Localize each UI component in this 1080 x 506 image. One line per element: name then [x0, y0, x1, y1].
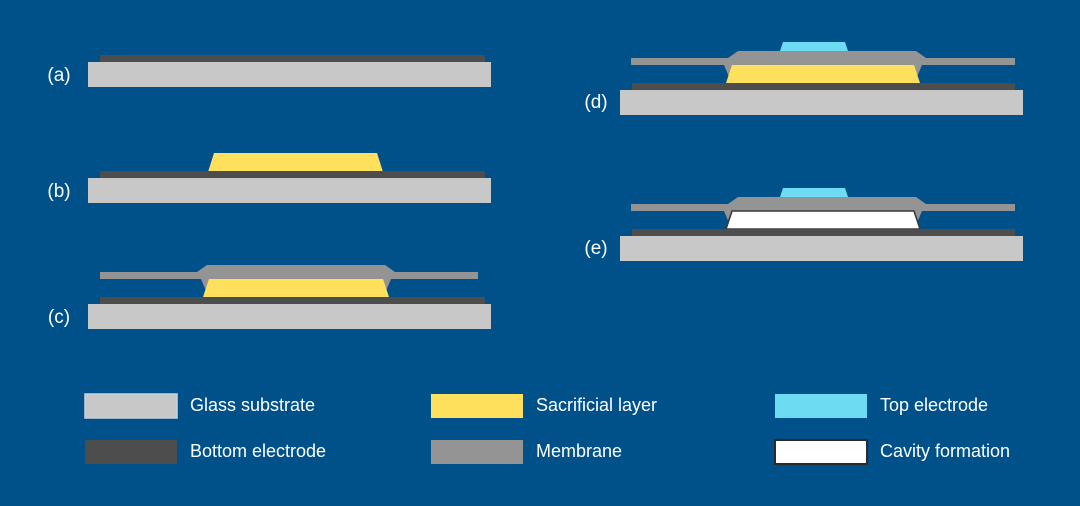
- legend-label-membrane: Membrane: [536, 441, 622, 461]
- panel-c-bottom-electrode: [100, 297, 485, 305]
- panel-a-bottom-electrode: [100, 55, 485, 63]
- panel-a-glass-substrate: [88, 62, 491, 87]
- panel-c-label: (c): [48, 307, 70, 328]
- panel-a-label: (a): [47, 65, 70, 86]
- panel-b-sacrificial-layer: [208, 153, 383, 172]
- panel-a: (a): [47, 55, 491, 87]
- panel-d-bottom-electrode: [632, 83, 1015, 91]
- legend-item-cavity-formation: Cavity formation: [775, 440, 1010, 464]
- panel-d-sacrificial-layer: [726, 65, 920, 83]
- legend-swatch-sacrificial-layer: [431, 394, 523, 418]
- panel-e-bottom-electrode: [632, 229, 1015, 237]
- legend-item-bottom-electrode: Bottom electrode: [85, 440, 326, 464]
- legend-swatch-cavity-formation: [775, 440, 867, 464]
- process-flow-figure: (a) (b) (c) (d): [0, 0, 1080, 506]
- legend-label-cavity-formation: Cavity formation: [880, 441, 1010, 461]
- panel-e-label: (e): [584, 238, 607, 259]
- legend-swatch-top-electrode: [775, 394, 867, 418]
- legend-label-top-electrode: Top electrode: [880, 395, 988, 415]
- panel-c: (c): [48, 265, 491, 329]
- legend-item-glass-substrate: Glass substrate: [85, 394, 315, 418]
- legend-label-bottom-electrode: Bottom electrode: [190, 441, 326, 461]
- panel-b-label: (b): [47, 181, 70, 202]
- panel-e-cavity: [726, 211, 920, 229]
- panel-d-label: (d): [584, 92, 607, 113]
- legend-swatch-membrane: [431, 440, 523, 464]
- process-flow-diagram: (a) (b) (c) (d): [0, 0, 1080, 506]
- panel-c-sacrificial-layer: [203, 279, 389, 297]
- legend-label-sacrificial-layer: Sacrificial layer: [536, 395, 657, 415]
- legend-label-glass-substrate: Glass substrate: [190, 395, 315, 415]
- panel-b-bottom-electrode: [100, 171, 485, 179]
- panel-b-glass-substrate: [88, 178, 491, 203]
- panel-c-glass-substrate: [88, 304, 491, 329]
- legend-swatch-bottom-electrode: [85, 440, 177, 464]
- panel-e-glass-substrate: [620, 236, 1023, 261]
- panel-d-glass-substrate: [620, 90, 1023, 115]
- legend-item-top-electrode: Top electrode: [775, 394, 988, 418]
- legend-item-sacrificial-layer: Sacrificial layer: [431, 394, 657, 418]
- legend-swatch-glass-substrate: [85, 394, 177, 418]
